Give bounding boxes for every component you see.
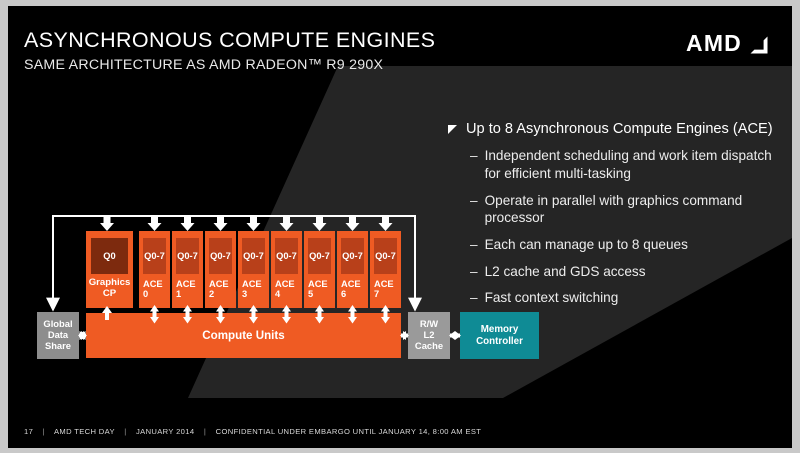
bullet-level2-text: Operate in parallel with graphics comman… [485,192,788,227]
ace-block-7[interactable]: Q0-7 ACE 7 [370,231,401,308]
dispatch-bus-right-drop [414,215,416,301]
bullet-level1-text: Up to 8 Asynchronous Compute Engines (AC… [466,120,773,138]
slide-canvas: ASYNCHRONOUS COMPUTE ENGINES SAME ARCHIT… [8,6,792,448]
bullet-level1: Up to 8 Asynchronous Compute Engines (AC… [448,120,788,138]
memory-controller-block[interactable]: Memory Controller [460,312,539,359]
ace-block-5[interactable]: Q0-7 ACE 5 [304,231,335,308]
bullet-level2-text: Each can manage up to 8 queues [485,236,688,254]
footer-separator: | [197,427,213,436]
ace-label-7: ACE 7 [374,279,397,299]
ace-block-1[interactable]: Q0-7 ACE 1 [172,231,203,308]
bullet-level2-text: Fast context switching [485,289,619,307]
mc-line1: Memory [481,324,519,335]
ace-queue-6: Q0-7 [341,238,364,274]
ace-queue-7: Q0-7 [374,238,397,274]
compute-units-block[interactable]: Compute Units [86,313,401,358]
footer-notice: CONFIDENTIAL UNDER EMBARGO UNTIL JANUARY… [216,427,482,436]
footer-event: AMD TECH DAY [54,427,115,436]
bullet-level2: – L2 cache and GDS access [470,263,788,281]
l2-line2: L2 [424,329,435,340]
ace-label-6: ACE 6 [341,279,364,299]
triangle-bullet-icon [448,125,457,134]
ace-label-5: ACE 5 [308,279,331,299]
bullet-level2: – Independent scheduling and work item d… [470,147,788,182]
amd-wordmark: AMD [686,32,742,55]
dash-bullet-icon: – [470,147,478,165]
ace-label-3: ACE 3 [242,279,265,299]
amd-logo: AMD [686,32,768,55]
page-subtitle: SAME ARCHITECTURE AS AMD RADEON™ R9 290X [24,57,435,73]
bullet-level2: – Fast context switching [470,289,788,307]
ace-block-2[interactable]: Q0-7 ACE 2 [205,231,236,308]
footer-separator: | [36,427,52,436]
l2-line3: Cache [415,340,443,351]
graphics-cp-block[interactable]: Q0 Graphics CP [86,231,133,308]
footer-date: JANUARY 2014 [136,427,194,436]
bullet-list: Up to 8 Asynchronous Compute Engines (AC… [448,120,788,316]
ace-label-2: ACE 2 [209,279,232,299]
graphics-cp-label-line1: Graphics [89,277,131,288]
dash-bullet-icon: – [470,263,478,281]
ace-label-0: ACE 0 [143,279,166,299]
footer-page-number: 17 [24,427,33,436]
ace-queue-5: Q0-7 [308,238,331,274]
dash-bullet-icon: – [470,192,478,210]
ace-queue-3: Q0-7 [242,238,265,274]
ace-queue-1: Q0-7 [176,238,199,274]
l2-cache-block[interactable]: R/W L2 Cache [408,312,450,359]
dispatch-bus-left-drop [52,215,54,301]
ace-block-3[interactable]: Q0-7 ACE 3 [238,231,269,308]
ace-block-6[interactable]: Q0-7 ACE 6 [337,231,368,308]
ace-queue-0: Q0-7 [143,238,166,274]
mc-line2: Controller [476,336,523,347]
bullet-level2-text: L2 cache and GDS access [485,263,646,281]
l2-line1: R/W [420,318,438,329]
ace-block-0[interactable]: Q0-7 ACE 0 [139,231,170,308]
global-data-share-block[interactable]: Global Data Share [37,312,79,359]
bullet-level2: – Operate in parallel with graphics comm… [470,192,788,227]
ace-block-4[interactable]: Q0-7 ACE 4 [271,231,302,308]
ace-label-4: ACE 4 [275,279,298,299]
ace-queue-4: Q0-7 [275,238,298,274]
page-title: ASYNCHRONOUS COMPUTE ENGINES [24,28,435,52]
ace-label-1: ACE 1 [176,279,199,299]
gds-line1: Global [43,318,72,329]
footer-separator: | [117,427,133,436]
title-block: ASYNCHRONOUS COMPUTE ENGINES SAME ARCHIT… [24,28,435,73]
bullet-level2: – Each can manage up to 8 queues [470,236,788,254]
amd-arrow-icon [744,32,768,54]
graphics-cp-label: Graphics CP [89,278,131,299]
graphics-cp-queue: Q0 [91,238,128,274]
graphics-cp-label-line2: CP [103,288,116,299]
bullet-level2-text: Independent scheduling and work item dis… [485,147,788,182]
dash-bullet-icon: – [470,289,478,307]
ace-queue-2: Q0-7 [209,238,232,274]
gds-line3: Share [45,340,71,351]
dash-bullet-icon: – [470,236,478,254]
gds-line2: Data [48,329,68,340]
slide-footer: 17 | AMD TECH DAY | JANUARY 2014 | CONFI… [24,427,481,436]
dispatch-bus-horizontal [52,215,416,217]
slide-frame: ASYNCHRONOUS COMPUTE ENGINES SAME ARCHIT… [0,0,800,453]
